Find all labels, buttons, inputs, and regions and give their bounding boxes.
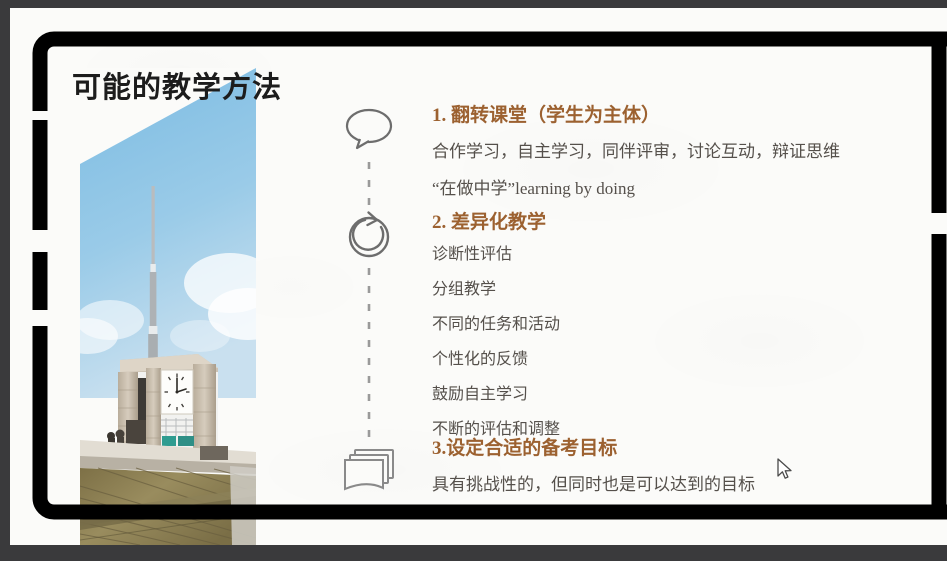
section-2-heading: 2. 差异化教学 [432,207,560,234]
slide-page: 可能的教学方法 [10,8,947,545]
section-1: 1. 翻转课堂（学生为主体） 合作学习，自主学习，同伴评审，讨论互动，辩证思维 … [424,100,840,211]
mouse-pointer-icon [776,458,794,482]
stacked-cards-icon [345,450,393,489]
section-3-heading: 3.设定合适的备考目标 [432,433,755,460]
section-1-line-1: 合作学习，自主学习，同伴评审，讨论互动，辩证思维 [432,137,840,162]
section-1-heading: 1. 翻转课堂（学生为主体） [432,100,840,127]
speech-bubble-icon [347,110,391,148]
refresh-circle-icon [350,213,388,257]
section-2-line-4: 个性化的反馈 [432,345,560,369]
page-title: 可能的教学方法 [72,64,282,106]
icon-rail [338,100,400,520]
section-2: 2. 差异化教学 诊断性评估 分组教学 不同的任务和活动 个性化的反馈 鼓励自主… [424,207,560,450]
section-2-line-1: 诊断性评估 [432,240,560,264]
clock-tower-photo [80,68,256,545]
section-2-line-2: 分组教学 [432,275,560,299]
section-2-line-3: 不同的任务和活动 [432,310,560,334]
section-3: 3.设定合适的备考目标 具有挑战性的，但同时也是可以达到的目标 [424,433,755,495]
section-3-line-1: 具有挑战性的，但同时也是可以达到的目标 [432,470,755,495]
section-2-line-5: 鼓励自主学习 [432,380,560,404]
presentation-viewer: 可能的教学方法 [0,0,947,561]
section-1-line-2: “在做中学”learning by doing [432,174,840,199]
